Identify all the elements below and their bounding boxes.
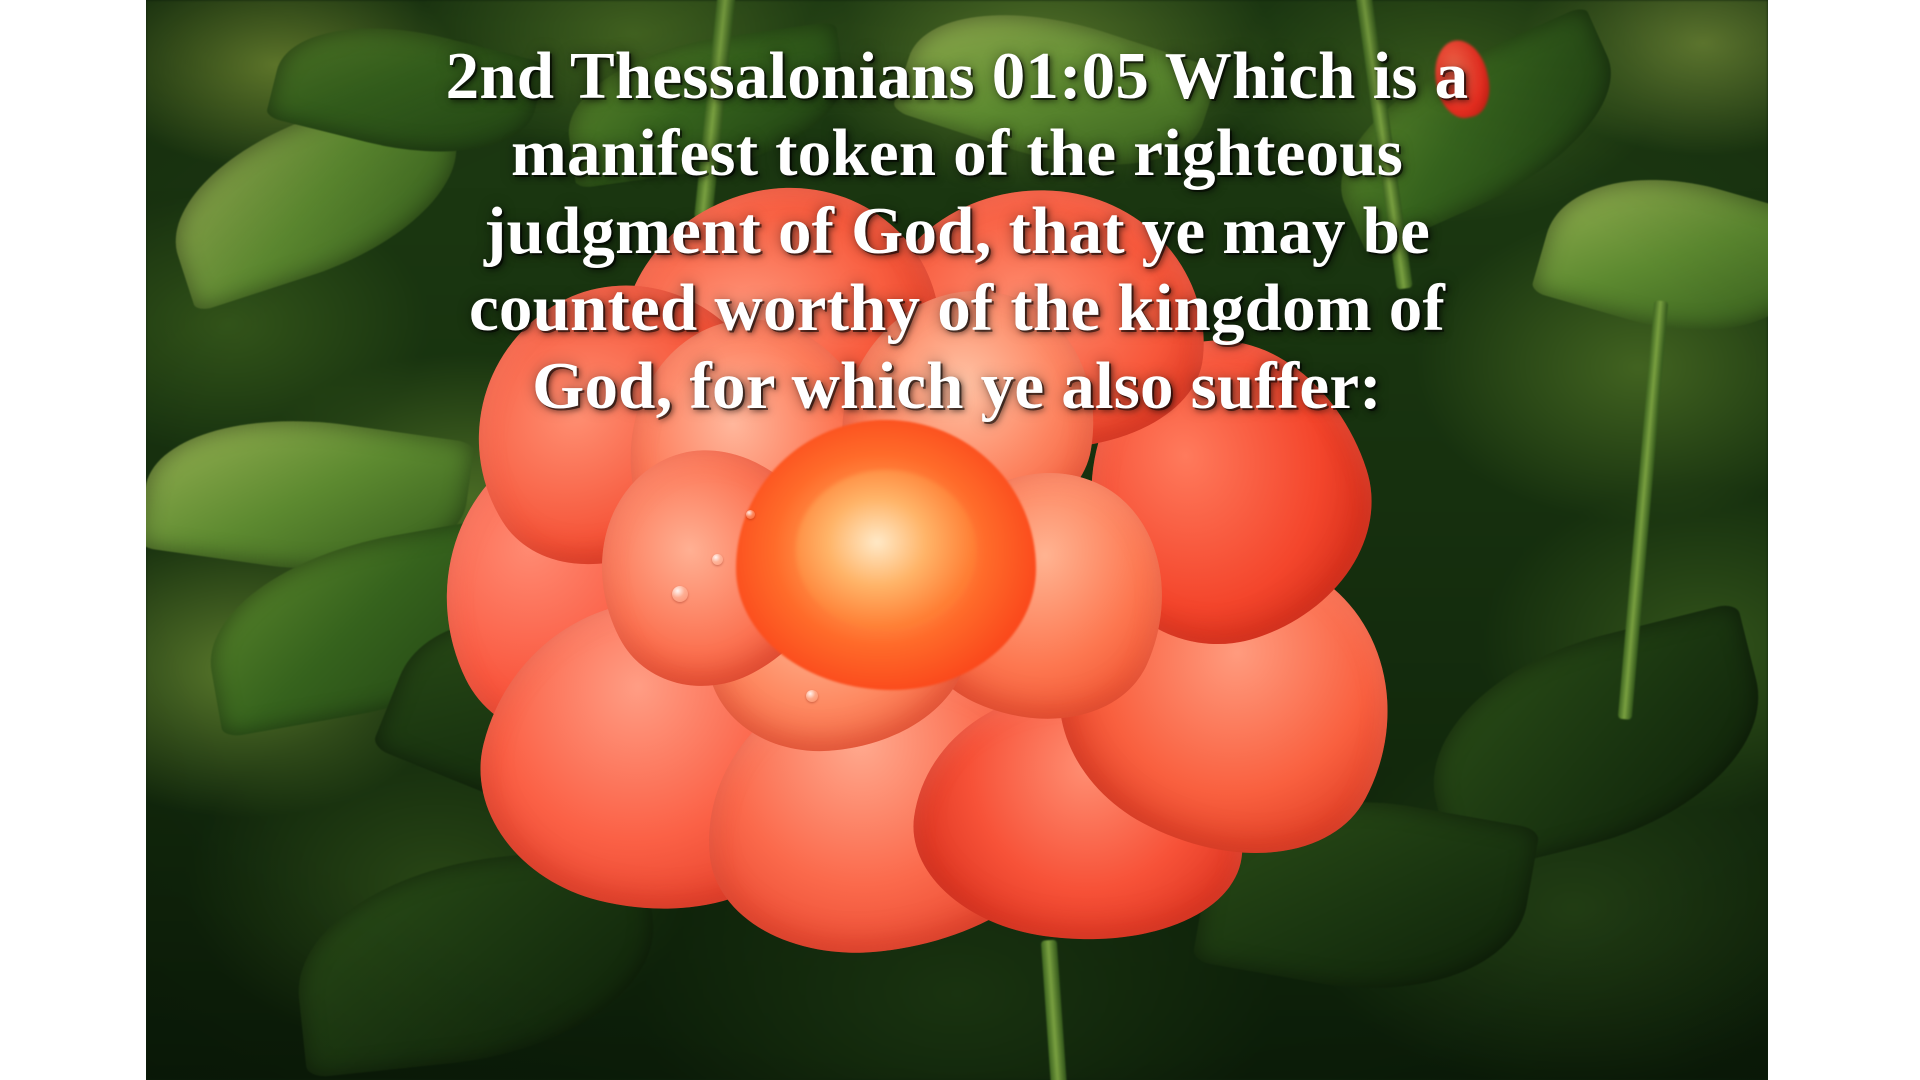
water-droplet xyxy=(746,510,755,519)
slide-canvas: 2nd Thessalonians 01:05 Which is a manif… xyxy=(0,0,1920,1080)
water-droplet xyxy=(712,554,723,565)
rose-center-glow xyxy=(796,470,976,630)
background-photo xyxy=(146,0,1768,1080)
water-droplet xyxy=(806,690,818,702)
water-droplet xyxy=(672,586,688,602)
rose-blossom xyxy=(446,170,1346,930)
